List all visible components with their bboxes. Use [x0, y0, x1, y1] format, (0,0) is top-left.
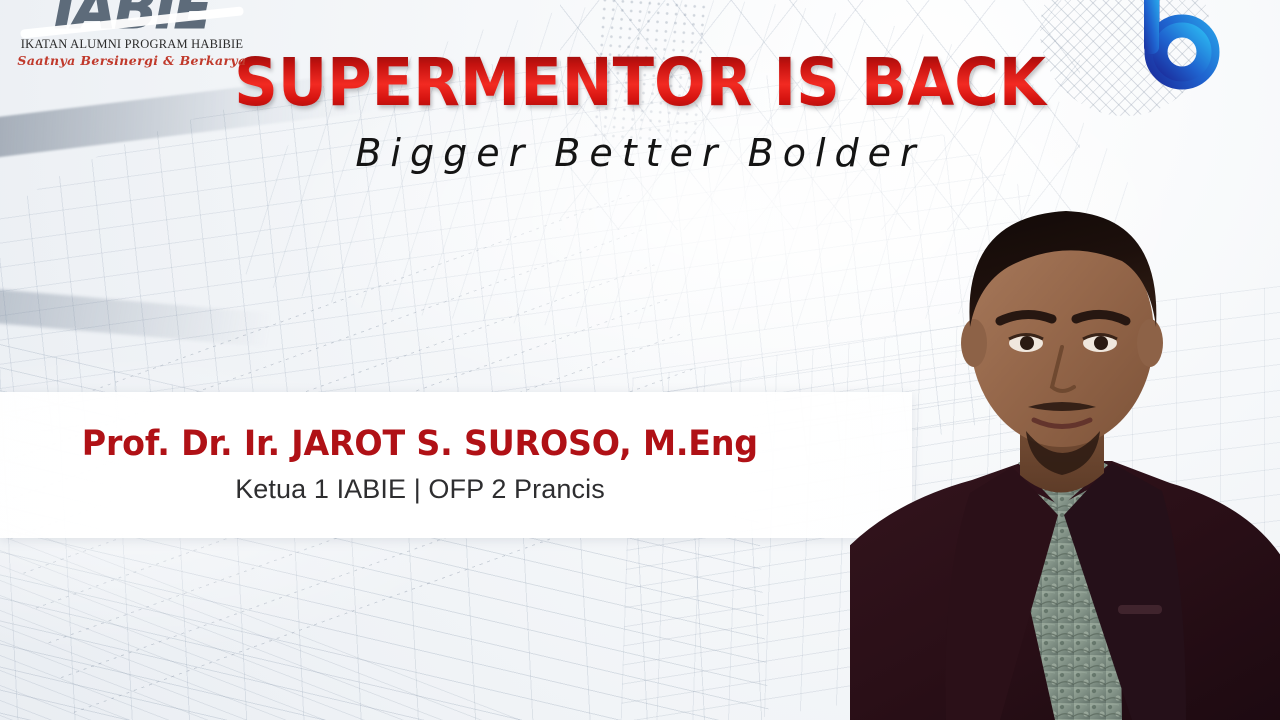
speaker-name-banner: Prof. Dr. Ir. JAROT S. SUROSO, M.Eng Ket… [0, 392, 912, 538]
binus-b-logo-icon [1132, 0, 1236, 94]
poster-canvas: Prof. Dr. Ir. JAROT S. SUROSO, M.Eng Ket… [0, 0, 1280, 720]
iabie-logo: IABIE IKATAN ALUMNI PROGRAM HABIBIE Saat… [12, 0, 252, 68]
page-subtitle: Bigger Better Bolder [0, 131, 1280, 175]
speaker-name: Prof. Dr. Ir. JAROT S. SUROSO, M.Eng [82, 425, 758, 464]
speaker-role: Ketua 1 IABIE | OFP 2 Prancis [235, 474, 605, 505]
speaker-portrait [850, 175, 1280, 720]
speaker-name-banner-content: Prof. Dr. Ir. JAROT S. SUROSO, M.Eng Ket… [0, 392, 840, 538]
iabie-tagline: Saatnya Bersinergi & Berkarya [12, 53, 252, 68]
